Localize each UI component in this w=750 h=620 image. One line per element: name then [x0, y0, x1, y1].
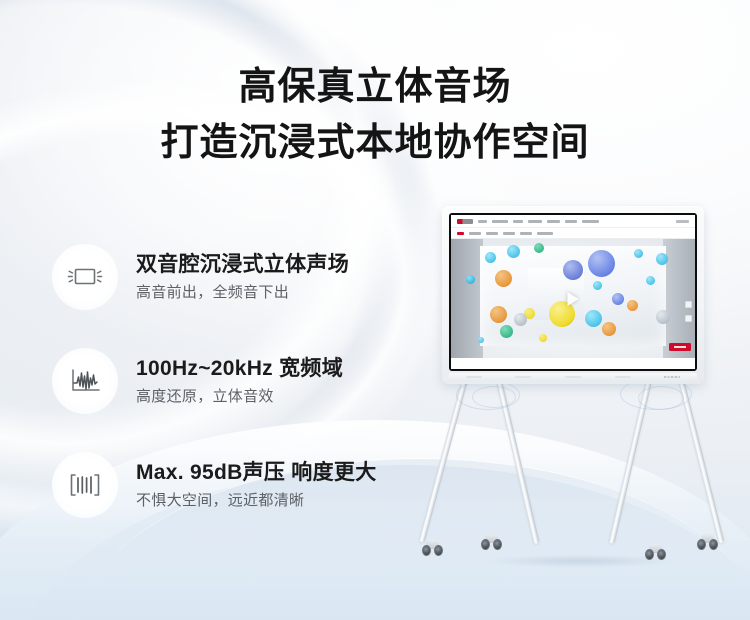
decor-sphere: [634, 249, 643, 258]
play-icon[interactable]: [568, 292, 579, 306]
display-panel: [442, 206, 704, 384]
decor-sphere: [612, 293, 624, 305]
feature-subtitle: 高度还原，立体音效: [136, 388, 442, 406]
product-image: [420, 196, 740, 576]
stand-caster: [646, 544, 665, 561]
stand-caster: [482, 534, 501, 551]
feature-item-sound-pressure: Max. 95dB声压 响度更大 不惧大空间，远近都清晰: [52, 448, 442, 522]
hero-video-area[interactable]: [451, 239, 695, 358]
feature-text: 双音腔沉浸式立体声场 高音前出，全频音下出: [136, 252, 442, 302]
subnav-item[interactable]: [537, 232, 553, 235]
subnav-item[interactable]: [469, 232, 481, 235]
nav-item[interactable]: [528, 220, 542, 223]
decor-sphere: [646, 276, 655, 285]
nav-item[interactable]: [478, 220, 487, 223]
feature-list: 双音腔沉浸式立体声场 高音前出，全频音下出 100Hz~20kHz 宽频域 高度…: [52, 240, 442, 552]
screen-sound-icon: [52, 244, 118, 310]
screen-bezel: [449, 213, 697, 371]
decor-sphere: [627, 300, 638, 311]
waveform-chart-icon: [52, 348, 118, 414]
decor-ring: [638, 386, 684, 410]
nav-item[interactable]: [513, 220, 523, 223]
feature-title: 100Hz~20kHz 宽频域: [136, 356, 442, 381]
poster-stage: 高保真立体音场 打造沉浸式本地协作空间 双音: [0, 0, 750, 620]
screen-content: [451, 215, 695, 369]
feature-text: Max. 95dB声压 响度更大 不惧大空间，远近都清晰: [136, 460, 442, 510]
feature-subtitle: 高音前出，全频音下出: [136, 284, 442, 302]
grille-mark: [466, 376, 482, 378]
stand-caster: [698, 534, 717, 551]
decor-sphere: [539, 334, 547, 342]
grille-mark: [565, 376, 581, 378]
feature-text: 100Hz~20kHz 宽频域 高度还原，立体音效: [136, 356, 442, 406]
subnav-item[interactable]: [486, 232, 498, 235]
grille-indicator-dots: [664, 376, 680, 378]
red-cta-button[interactable]: [669, 343, 691, 351]
nav-item[interactable]: [565, 220, 577, 223]
feature-item-frequency-range: 100Hz~20kHz 宽频域 高度还原，立体音效: [52, 344, 442, 418]
headline: 高保真立体音场 打造沉浸式本地协作空间: [0, 62, 750, 168]
headline-line-2: 打造沉浸式本地协作空间: [0, 118, 750, 168]
decor-sphere: [495, 270, 512, 287]
equalizer-bars-icon: [52, 452, 118, 518]
decor-sphere: [466, 275, 475, 284]
nav-item[interactable]: [492, 220, 508, 223]
feature-title: Max. 95dB声压 响度更大: [136, 460, 442, 485]
subnav-item-active[interactable]: [457, 232, 464, 235]
speaker-grille: [449, 373, 697, 381]
nav-item[interactable]: [547, 220, 560, 223]
decor-ring: [472, 386, 516, 408]
decor-sphere: [593, 281, 602, 290]
feature-item-stereo-sound: 双音腔沉浸式立体声场 高音前出，全频音下出: [52, 240, 442, 314]
decor-sphere: [500, 325, 513, 338]
decor-sphere: [588, 250, 615, 277]
hero-side-wall-right: [663, 239, 695, 358]
grille-mark: [515, 376, 531, 378]
side-button-bottom[interactable]: [685, 315, 692, 322]
feature-title: 双音腔沉浸式立体声场: [136, 252, 442, 277]
huawei-logo: [457, 219, 473, 224]
grille-mark: [615, 376, 631, 378]
subnav-item[interactable]: [503, 232, 515, 235]
subnav-item[interactable]: [520, 232, 532, 235]
decor-sphere: [490, 306, 507, 323]
headline-line-1: 高保真立体音场: [0, 62, 750, 112]
browser-nav-bar[interactable]: [451, 215, 695, 228]
browser-subnav-bar[interactable]: [451, 228, 695, 239]
decor-sphere: [507, 245, 520, 258]
nav-search-icon[interactable]: [676, 220, 689, 223]
side-button-top[interactable]: [685, 301, 692, 308]
feature-subtitle: 不惧大空间，远近都清晰: [136, 492, 442, 510]
decor-sphere: [534, 243, 544, 253]
decor-sphere: [478, 337, 484, 343]
nav-item[interactable]: [582, 220, 599, 223]
